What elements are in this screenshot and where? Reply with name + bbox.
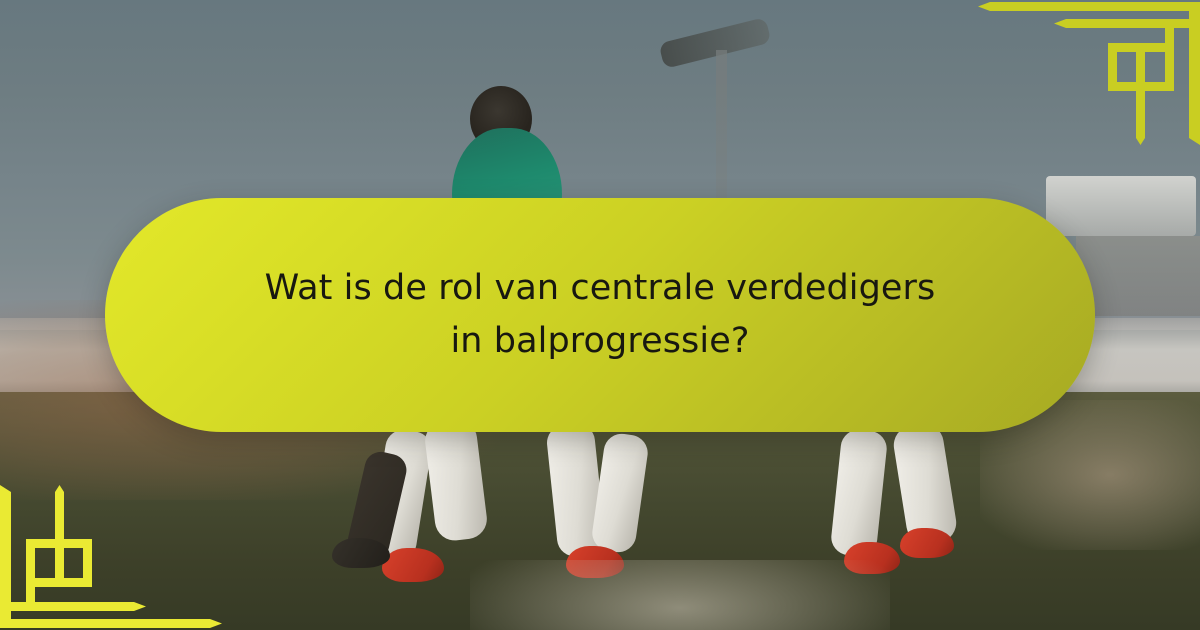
background-structure-right <box>1046 176 1196 236</box>
player-boot <box>900 528 954 558</box>
corner-ornament-bottom-left <box>0 485 230 630</box>
background-structure-right-lower <box>1076 236 1200 316</box>
question-card: Wat is de rol van centrale verdedigers i… <box>105 198 1095 432</box>
social-card-canvas: Wat is de rol van centrale verdedigers i… <box>0 0 1200 630</box>
player-boot <box>382 548 444 582</box>
corner-ornament-top-right <box>970 0 1200 145</box>
background-light-patch <box>470 560 890 630</box>
player-boot <box>332 538 390 568</box>
question-text: Wat is de rol van centrale verdedigers i… <box>250 262 950 368</box>
